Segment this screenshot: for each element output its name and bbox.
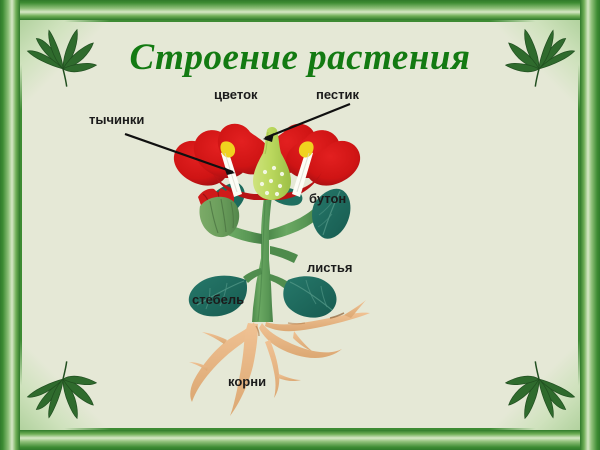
plant-roots xyxy=(189,300,370,416)
frame-band-bottom xyxy=(0,430,600,450)
label-flower: цветок xyxy=(214,88,258,101)
plant-bud xyxy=(198,187,239,237)
label-stem: стебель xyxy=(192,293,244,306)
label-roots: корни xyxy=(228,375,266,388)
label-leaves: листья xyxy=(307,261,352,274)
plant-diagram xyxy=(22,22,578,428)
label-stamens: тычинки xyxy=(89,113,144,126)
slide-canvas: Строение растения цветок пестик тычинки … xyxy=(0,0,600,450)
page-title: Строение растения xyxy=(0,36,600,79)
label-pistil: пестик xyxy=(316,88,359,101)
frame-band-top xyxy=(0,0,600,20)
label-bud: бутон xyxy=(309,192,346,205)
